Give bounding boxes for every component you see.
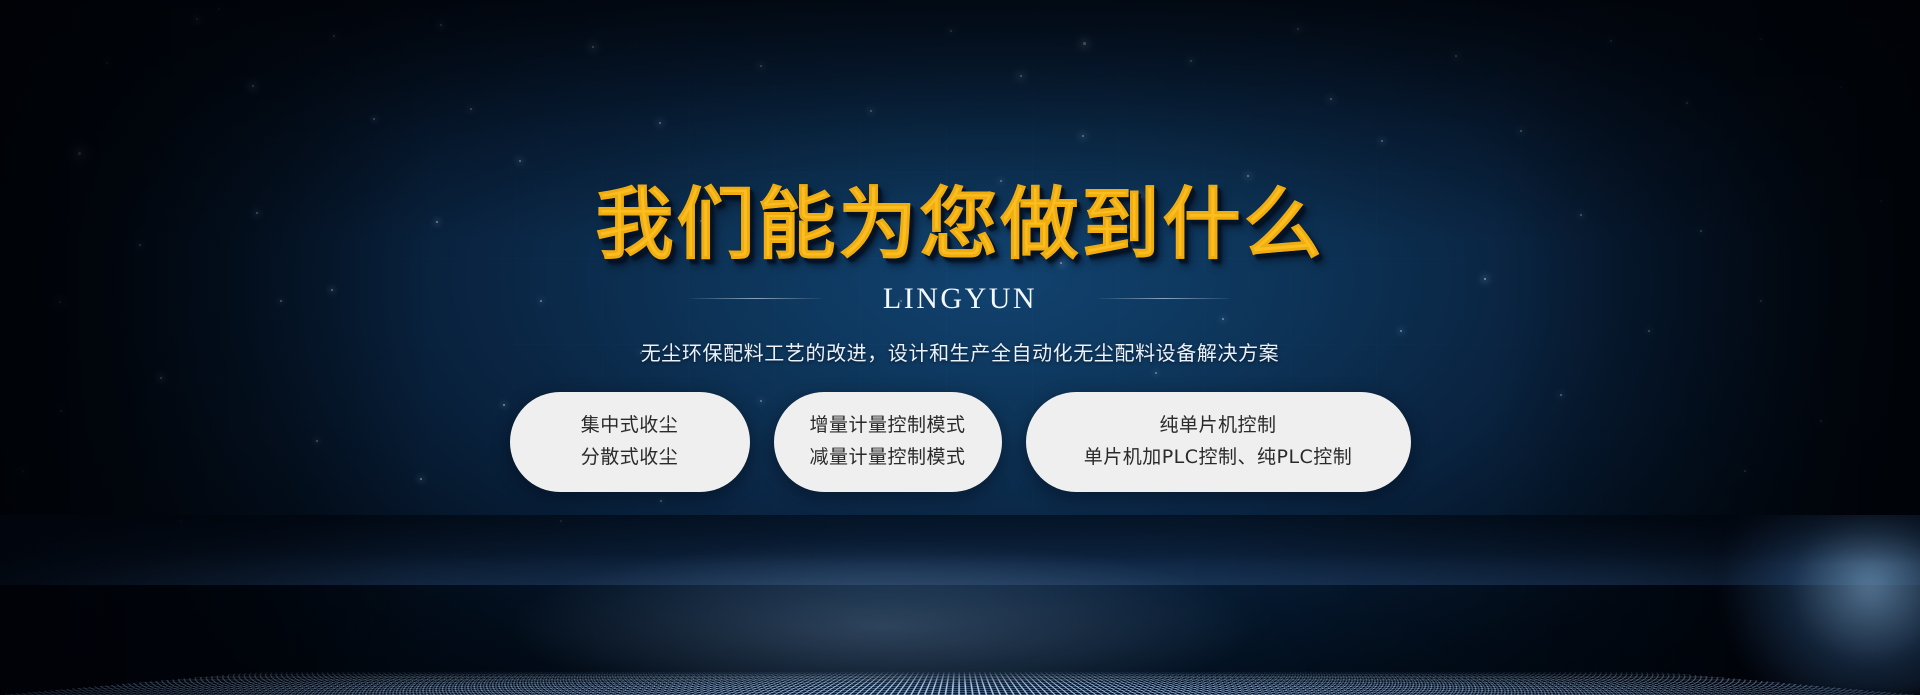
tagline: 无尘环保配料工艺的改进，设计和生产全自动化无尘配料设备解决方案 — [641, 337, 1280, 366]
pill-line-secondary: 减量计量控制模式 — [809, 448, 965, 467]
pill-line-primary: 增量计量控制模式 — [809, 416, 965, 435]
pill-line-primary: 集中式收尘 — [581, 416, 679, 435]
brand-name: LINGYUN — [883, 282, 1037, 316]
banner-content: 我们能为您做到什么 LINGYUN 无尘环保配料工艺的改进，设计和生产全自动化无… — [0, 0, 1920, 695]
brand-row: LINGYUN — [690, 282, 1230, 316]
page-title: 我们能为您做到什么 — [595, 186, 1324, 266]
hero-banner: 我们能为您做到什么 LINGYUN 无尘环保配料工艺的改进，设计和生产全自动化无… — [0, 0, 1920, 695]
divider-line-right — [1099, 298, 1230, 299]
feature-pill-row: 集中式收尘 分散式收尘 增量计量控制模式 减量计量控制模式 纯单片机控制 单片机… — [510, 392, 1411, 492]
feature-pill-dust-collection[interactable]: 集中式收尘 分散式收尘 — [510, 392, 750, 492]
pill-line-secondary: 分散式收尘 — [581, 448, 679, 467]
feature-pill-metering-control-mode[interactable]: 增量计量控制模式 减量计量控制模式 — [774, 392, 1002, 492]
pill-line-primary: 纯单片机控制 — [1159, 416, 1276, 435]
divider-line-left — [690, 298, 821, 299]
feature-pill-controller-type[interactable]: 纯单片机控制 单片机加PLC控制、纯PLC控制 — [1026, 392, 1411, 492]
pill-line-secondary: 单片机加PLC控制、纯PLC控制 — [1084, 448, 1353, 467]
